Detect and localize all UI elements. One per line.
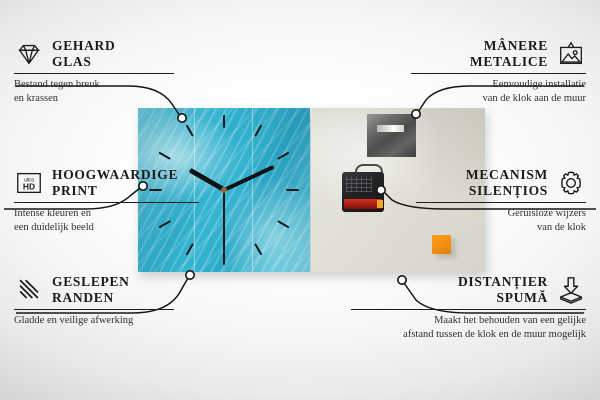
ultra-hd-icon: ultra HD [14,168,44,198]
feature-mecanism-silentios: MECANISMSILENȚIOS Geruisloze wijzersvan … [401,167,586,235]
clock-second-hand [223,190,225,252]
clock-minute-hand [223,165,275,192]
feature-manere-metalice: MÂNEREMETALICE Eenvoudige installatievan… [396,38,586,106]
mechanism-vent-grid [346,176,372,192]
clock-tick [254,243,262,255]
clock-tick [223,115,225,128]
feature-rule [416,202,586,203]
foam-spacer-pad [432,235,451,254]
clock-tick [186,125,194,137]
feature-header: MÂNEREMETALICE [396,38,586,70]
feature-header: MECANISMSILENȚIOS [401,167,586,199]
diamond-icon [14,39,44,69]
feature-title: MÂNEREMETALICE [470,38,548,70]
feature-description: Gladde en veilige afwerking [14,314,189,328]
clock-tick [286,189,299,191]
feature-distantier-spuma: DISTANȚIERSPUMĂ Maakt het behouden van e… [336,274,586,342]
infographic-canvas: GEHARDGLAS Bestand tegen breuken krassen… [0,0,600,400]
feature-title: DISTANȚIERSPUMĂ [458,274,548,306]
gear-icon [556,168,586,198]
feature-rule [14,309,174,310]
clock-tick [277,152,289,160]
spacer-arrow-icon [556,275,586,305]
metal-hanger-glint [377,125,404,132]
svg-text:HD: HD [23,181,35,191]
feature-header: ultra HD HOOGWAARDIGEPRINT [14,167,214,199]
feature-header: DISTANȚIERSPUMĂ [336,274,586,306]
clock-tick [159,152,171,160]
feature-title: MECANISMSILENȚIOS [466,167,548,199]
clock-tick [277,220,289,228]
feature-description: Maakt het behouden van een gelijkeafstan… [336,314,586,342]
feature-title: HOOGWAARDIGEPRINT [52,167,178,199]
feature-gehard-glas: GEHARDGLAS Bestand tegen breuken krassen [14,38,189,106]
feature-geslepen-randen: GESLEPENRANDEN Gladde en veilige afwerki… [14,274,189,328]
feature-title: GESLEPENRANDEN [52,274,130,306]
feature-description: Eenvoudige installatievan de klok aan de… [396,78,586,106]
quartz-mechanism [342,172,384,212]
feature-description: Bestand tegen breuken krassen [14,78,189,106]
clock-center-cap [221,187,227,193]
battery-terminal [377,200,383,208]
feature-title: GEHARDGLAS [52,38,115,70]
clock-tick [254,125,262,137]
clock-tick [223,252,225,265]
feature-header: GESLEPENRANDEN [14,274,189,306]
feature-header: GEHARDGLAS [14,38,189,70]
picture-frame-icon [556,39,586,69]
feature-rule [411,73,586,74]
feature-rule [14,73,174,74]
metal-hanger-plate [367,114,416,157]
feature-hoogwaardige-print: ultra HD HOOGWAARDIGEPRINT Intense kleur… [14,167,214,235]
feature-description: Geruisloze wijzersvan de klok [401,207,586,235]
feature-rule [351,309,586,310]
clock-tick [186,243,194,255]
feature-description: Intense kleuren eneen duidelijk beeld [14,207,214,235]
glass-pane-seam [252,108,253,272]
beveled-edges-icon [14,275,44,305]
feature-rule [14,202,199,203]
